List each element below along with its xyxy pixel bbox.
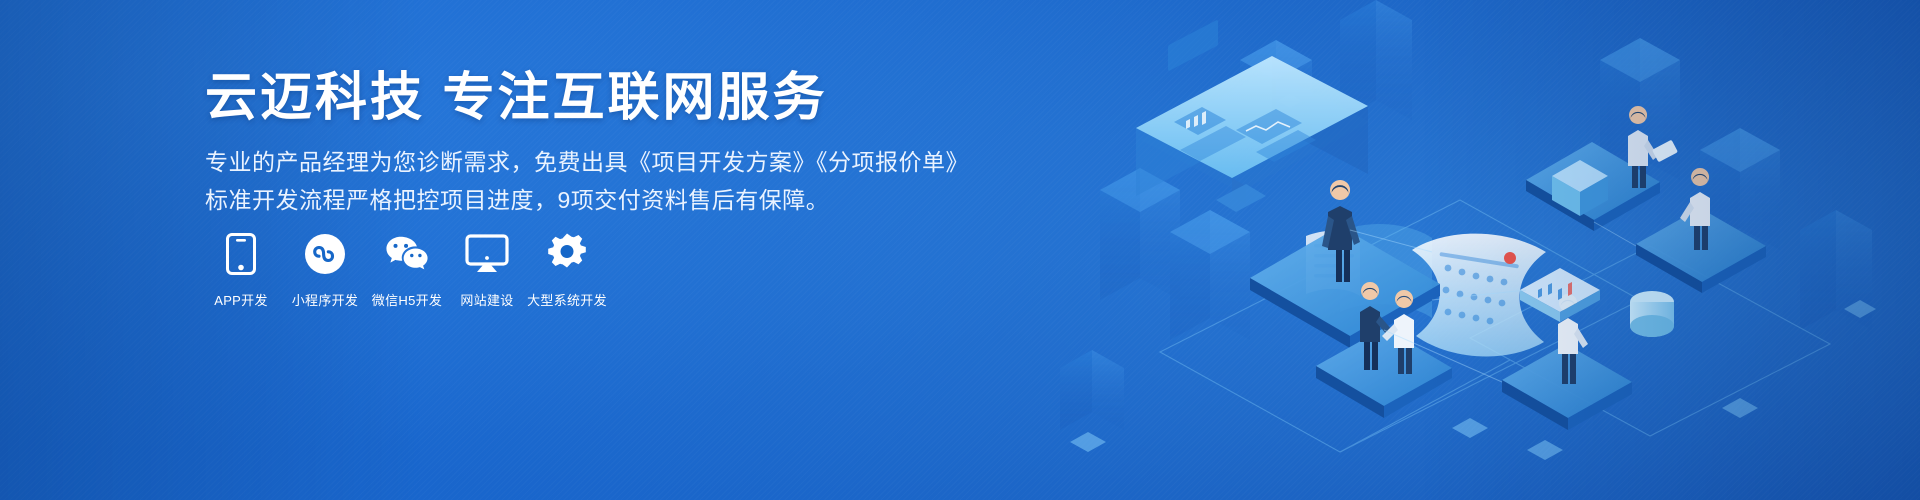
subtitle-line-2: 标准开发流程严格把控项目进度，9项交付资料售后有保障。 — [205, 181, 905, 219]
page-title: 云迈科技 专注互联网服务 — [205, 72, 827, 124]
service-label-website: 网站建设 — [460, 290, 513, 309]
service-item-enterprise-system[interactable]: 大型系统开发 — [531, 232, 603, 309]
service-label-wechat-h5: 微信H5开发 — [372, 290, 442, 309]
mini-program-icon — [303, 232, 347, 276]
service-item-wechat-h5[interactable]: 微信H5开发 — [371, 232, 443, 309]
mobile-phone-icon — [219, 232, 263, 276]
service-item-website[interactable]: 网站建设 — [451, 232, 523, 309]
service-label-app: APP开发 — [214, 290, 268, 309]
monitor-icon — [465, 232, 509, 276]
service-icon-row: APP开发 小程序开发 — [205, 232, 605, 309]
banner-content: 云迈科技 专注互联网服务 专业的产品经理为您诊断需求，免费出具《项目开发方案》《… — [205, 0, 1105, 500]
subtitle-line-1: 专业的产品经理为您诊断需求，免费出具《项目开发方案》《分项报价单》 — [205, 143, 905, 181]
service-label-mini-program: 小程序开发 — [292, 290, 359, 309]
wechat-icon — [385, 232, 429, 276]
banner-subtitle: 专业的产品经理为您诊断需求，免费出具《项目开发方案》《分项报价单》 标准开发流程… — [205, 143, 905, 219]
hero-banner: 云迈科技 专注互联网服务 专业的产品经理为您诊断需求，免费出具《项目开发方案》《… — [0, 0, 1920, 500]
gear-icon — [545, 232, 589, 276]
service-item-mini-program[interactable]: 小程序开发 — [289, 232, 361, 309]
service-label-enterprise-system: 大型系统开发 — [527, 290, 607, 309]
service-item-app[interactable]: APP开发 — [205, 232, 277, 309]
isometric-tech-illustration — [1040, 0, 1920, 500]
